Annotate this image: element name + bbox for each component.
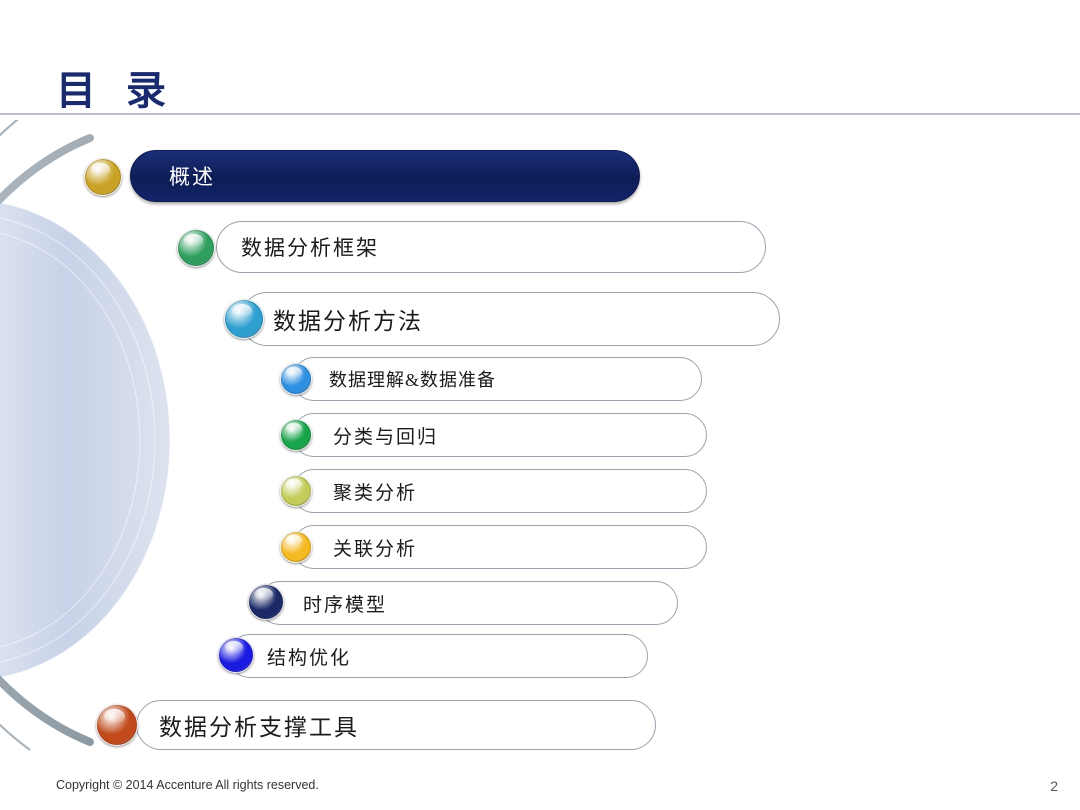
toc-item-10[interactable]: 数据分析支撑工具	[136, 700, 656, 750]
toc-bullet-5[interactable]	[280, 419, 312, 451]
bullet-highlight	[104, 709, 125, 724]
toc-item-label: 数据分析支撑工具	[159, 708, 359, 742]
toc-bullet-8[interactable]	[248, 584, 284, 620]
toc-item-7[interactable]: 关联分析	[292, 525, 707, 569]
toc-bullet-3[interactable]	[224, 299, 264, 339]
toc-item-8[interactable]: 时序模型	[258, 581, 678, 625]
bullet-highlight	[225, 641, 243, 654]
toc-item-label: 关联分析	[333, 534, 417, 561]
bullet-highlight	[232, 304, 252, 318]
toc-bullet-7[interactable]	[280, 531, 312, 563]
toc-bullet-1[interactable]	[84, 158, 122, 196]
toc-item-9[interactable]: 结构优化	[228, 634, 648, 678]
page-number: 2	[1050, 778, 1058, 794]
slide-canvas: 目 录 概述数据分析框架数据分析方法数据理解&数据准备分类与回归聚类分析关联分析…	[0, 0, 1080, 810]
toc-item-3[interactable]: 数据分析方法	[240, 292, 780, 346]
toc-bullet-2[interactable]	[177, 229, 215, 267]
toc-bullet-10[interactable]	[96, 704, 138, 746]
toc-item-label: 结构优化	[267, 643, 351, 670]
toc-item-label: 数据分析框架	[241, 232, 379, 262]
bullet-highlight	[184, 234, 203, 248]
toc-bullet-4[interactable]	[280, 363, 312, 395]
toc-item-4[interactable]: 数据理解&数据准备	[292, 357, 702, 401]
toc-item-label: 数据分析方法	[273, 302, 423, 336]
bullet-highlight	[91, 163, 110, 177]
toc-item-2[interactable]: 数据分析框架	[216, 221, 766, 273]
bullet-highlight	[255, 588, 273, 601]
bullet-highlight	[286, 423, 302, 434]
toc-item-1[interactable]: 概述	[130, 150, 640, 202]
toc-item-label: 数据理解&数据准备	[329, 366, 496, 392]
page-title: 目 录	[56, 58, 176, 116]
toc-item-label: 聚类分析	[333, 478, 417, 505]
toc-item-6[interactable]: 聚类分析	[292, 469, 707, 513]
bullet-highlight	[286, 367, 302, 378]
bullet-highlight	[286, 479, 302, 490]
toc-item-label: 概述	[169, 161, 215, 191]
title-divider	[0, 113, 1080, 115]
toc-item-5[interactable]: 分类与回归	[292, 413, 707, 457]
toc-item-label: 分类与回归	[333, 422, 438, 449]
copyright-footer: Copyright © 2014 Accenture All rights re…	[56, 778, 319, 792]
toc-item-label: 时序模型	[303, 590, 387, 617]
toc-bullet-9[interactable]	[218, 637, 254, 673]
toc-bullet-6[interactable]	[280, 475, 312, 507]
bullet-highlight	[286, 535, 302, 546]
